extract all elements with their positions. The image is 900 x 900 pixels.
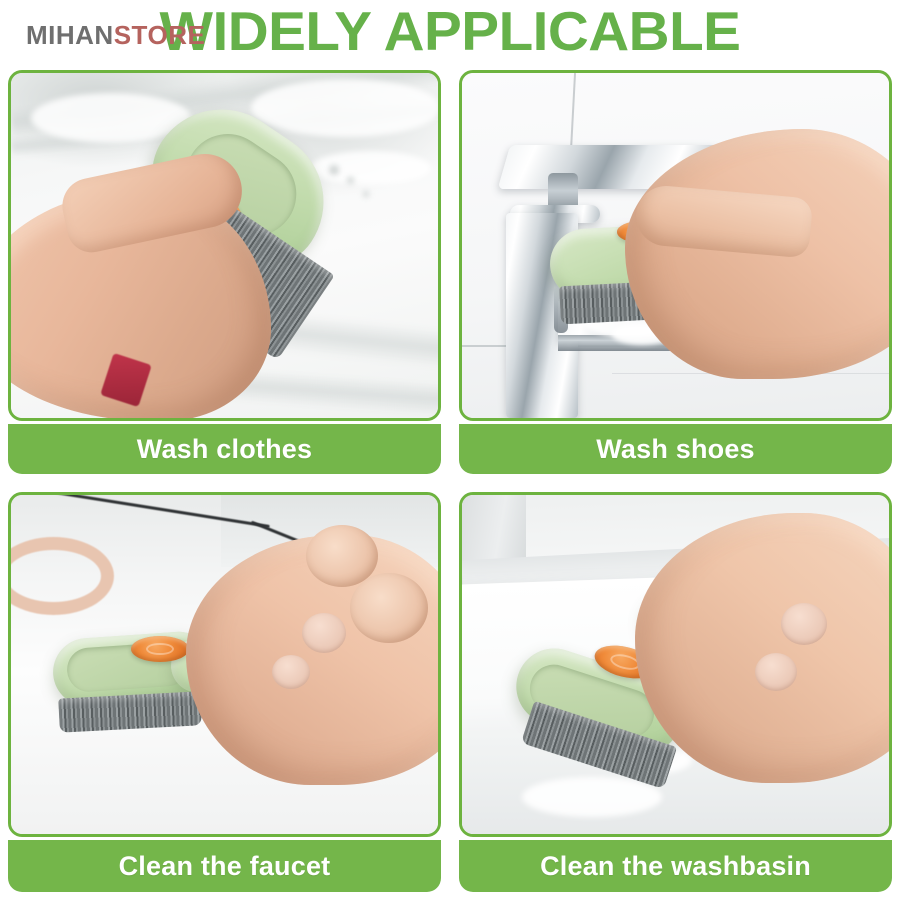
photo-clean-the-washbasin [459,492,892,837]
knuckle [350,573,428,643]
fingernail [302,613,346,653]
photo-clean-the-faucet [8,492,441,837]
panel-wash-clothes[interactable]: Wash clothes [8,70,441,474]
panel-clean-the-faucet[interactable]: Clean the faucet [8,492,441,892]
fingernail [272,655,310,689]
soap-bubble [329,165,339,175]
panel-clean-the-washbasin[interactable]: Clean the washbasin [459,492,892,892]
soap-bubble [363,191,369,197]
feature-panel-grid: Wash clothes [8,70,892,892]
scene-clean-the-faucet [11,495,438,834]
soap-foam [522,777,662,817]
caption-clean-the-washbasin: Clean the washbasin [459,840,892,892]
soap-foam [251,79,441,137]
scene-wash-clothes [11,73,438,418]
photo-wash-clothes [8,70,441,421]
scene-wash-shoes [462,73,889,418]
soap-bubble [347,177,354,184]
panel-wash-shoes[interactable]: Wash shoes [459,70,892,474]
fingernail [755,653,797,691]
mihanstore-watermark: MIHANSTORE [26,22,205,48]
watermark-part-two: STORE [114,20,206,50]
caption-wash-clothes: Wash clothes [8,424,441,474]
caption-wash-shoes: Wash shoes [459,424,892,474]
page-title-text: WIDELY APPLICABLE [160,4,741,59]
fingernail [781,603,827,645]
caption-clean-the-faucet: Clean the faucet [8,840,441,892]
scene-clean-the-washbasin [462,495,889,834]
photo-wash-shoes [459,70,892,421]
soap-dispenser-button[interactable] [131,636,189,662]
watermark-part-one: MIHAN [26,20,114,50]
